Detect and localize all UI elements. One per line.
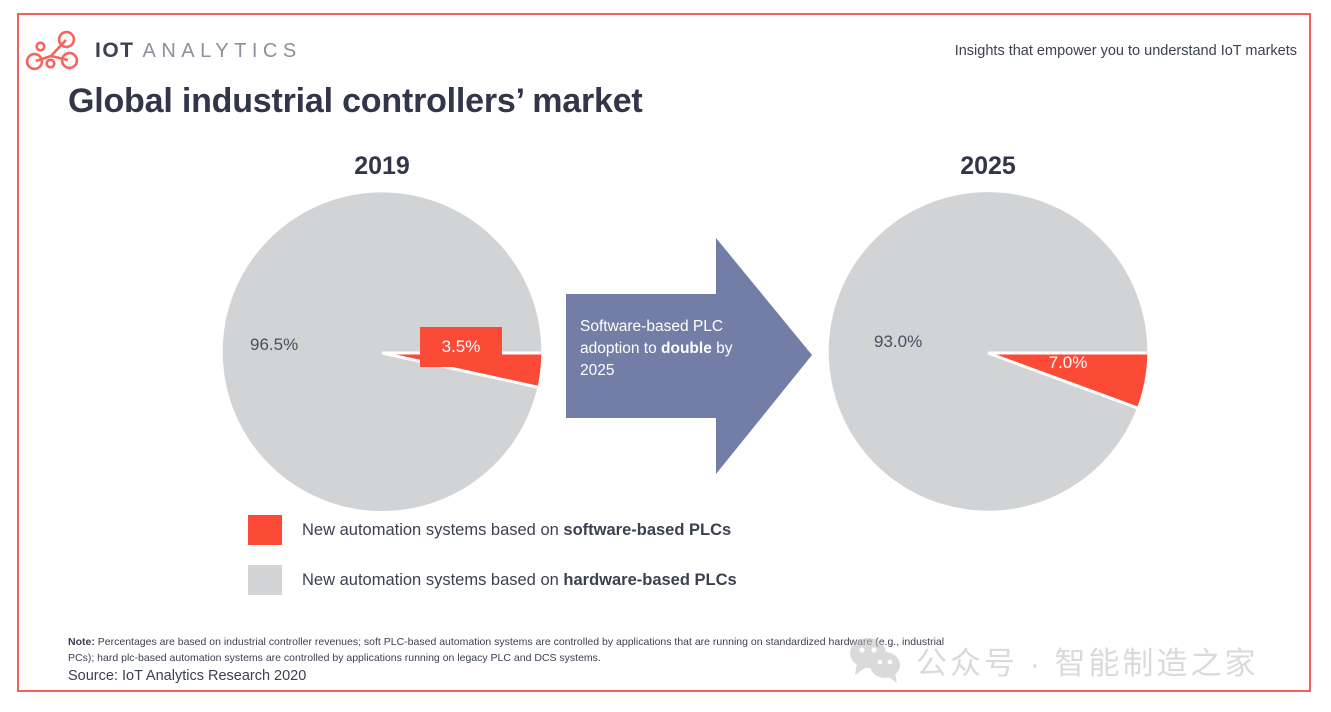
legend-label-software-bold: software-based PLCs [563,521,731,539]
logo-word-analytics: ANALYTICS [143,40,302,63]
legend-item-software: New automation systems based on software… [248,512,737,548]
brand-logo-text: IOT ANALYTICS [95,39,302,63]
legend-swatch-hardware [248,565,282,595]
footnote-source: Source: IoT Analytics Research 2020 [68,668,306,684]
header-tagline: Insights that empower you to understand … [955,43,1297,59]
legend-swatch-software [248,515,282,545]
transition-arrow: Software-based PLC adoption to double by… [566,238,812,474]
arrow-text-line2-bold: double [661,340,712,357]
pie-chart-2025: 2025 93.0% 7.0% [828,152,1148,512]
legend-label-hardware: New automation systems based on hardware… [302,571,737,590]
iot-network-logo-icon [21,29,83,73]
brand-logo: IOT ANALYTICS [21,29,302,73]
pie-label-hardware-2019: 96.5% [250,335,298,355]
header: IOT ANALYTICS Insights that empower you … [17,13,1311,75]
footnote-note-label: Note: [68,636,95,648]
logo-word-iot: IOT [95,39,135,63]
page-title: Global industrial controllers’ market [68,82,643,121]
footnote-note-body: Percentages are based on industrial cont… [68,636,944,664]
arrow-text-line2-post: by [712,340,733,357]
legend: New automation systems based on software… [248,512,737,612]
arrow-text-line1: Software-based PLC [580,318,723,335]
chart-year-label-2025: 2025 [828,152,1148,181]
legend-label-hardware-plain: New automation systems based on [302,571,563,589]
legend-label-hardware-bold: hardware-based PLCs [563,571,736,589]
pie-chart-2019: 2019 96.5% 3.5% [222,152,542,512]
pie-label-software-2025: 7.0% [1030,344,1106,382]
footnote-note: Note: Percentages are based on industria… [68,634,968,667]
pie-label-hardware-2025: 93.0% [874,332,922,352]
legend-label-software: New automation systems based on software… [302,521,731,540]
legend-item-hardware: New automation systems based on hardware… [248,562,737,598]
infographic-slide: IOT ANALYTICS Insights that empower you … [0,0,1331,712]
arrow-text-line2-pre: adoption to [580,340,661,357]
arrow-text: Software-based PLC adoption to double by… [580,316,746,382]
legend-label-software-plain: New automation systems based on [302,521,563,539]
pie-label-software-2019: 3.5% [420,327,502,367]
chart-year-label-2019: 2019 [222,152,542,181]
arrow-text-line3: 2025 [580,362,614,379]
